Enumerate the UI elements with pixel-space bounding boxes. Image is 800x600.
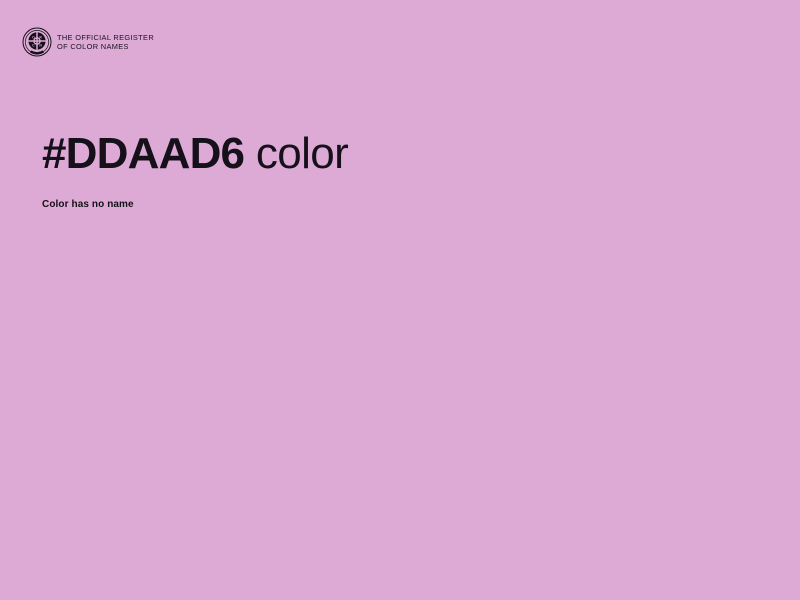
color-name-status: Color has no name — [42, 198, 134, 211]
brand-wordmark: THE OFFICIAL REGISTER OF COLOR NAMES — [57, 33, 154, 51]
register-seal-icon: O R C N — [22, 27, 52, 57]
brand-wordmark-line-1: THE OFFICIAL REGISTER — [57, 33, 154, 42]
page-title-hex: #DDAAD6 — [42, 129, 244, 178]
brand-header[interactable]: O R C N THE OFFICIAL REGISTER OF COLOR N… — [22, 27, 154, 57]
page-title: #DDAAD6 color — [42, 128, 348, 180]
svg-text:O: O — [32, 36, 35, 40]
brand-wordmark-line-2: OF COLOR NAMES — [57, 42, 154, 51]
color-page: O R C N THE OFFICIAL REGISTER OF COLOR N… — [0, 0, 800, 600]
register-seal-icon-graphic: O R C N — [22, 27, 52, 57]
page-title-suffix: color — [244, 129, 348, 178]
